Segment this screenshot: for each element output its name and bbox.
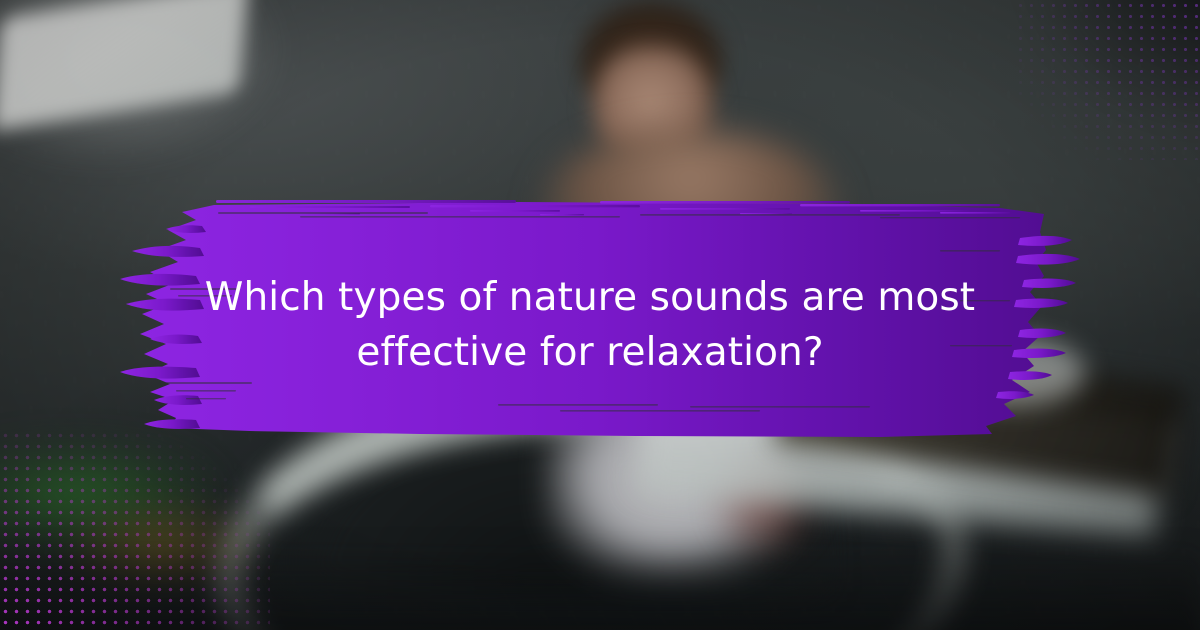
share-card: Which types of nature sounds are most ef… xyxy=(0,0,1200,630)
page-title: Which types of nature sounds are most ef… xyxy=(190,270,990,380)
